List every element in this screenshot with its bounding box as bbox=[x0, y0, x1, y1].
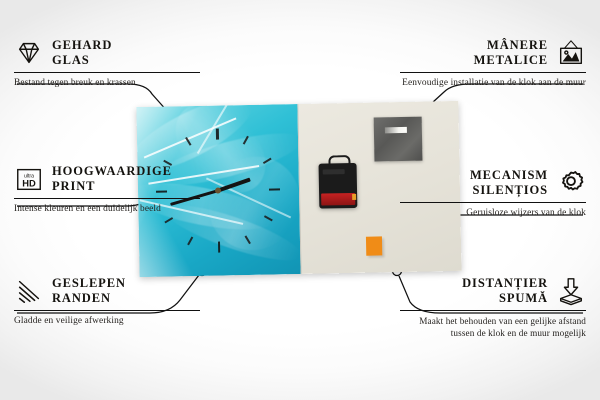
movement-detail bbox=[322, 169, 344, 175]
callout-gehard-glas: GEHARD GLAS Bestand tegen breuk en krass… bbox=[14, 38, 200, 89]
foam-spacer-arrow-icon bbox=[556, 276, 586, 306]
callout-description: Geruisloze wijzers van de klok bbox=[400, 207, 586, 220]
foam-spacer bbox=[366, 237, 382, 256]
callout-title: GESLEPEN RANDEN bbox=[52, 276, 126, 307]
callout-title: HOOGWAARDIGE PRINT bbox=[52, 164, 172, 195]
callout-distantier-spuma: DISTANȚIER SPUMĂ Maakt het behouden van … bbox=[400, 276, 586, 339]
gear-icon bbox=[556, 168, 586, 198]
metal-hanger-plate bbox=[374, 117, 423, 162]
product-infographic: GEHARD GLAS Bestand tegen breuk en krass… bbox=[0, 0, 600, 400]
callout-rule bbox=[400, 202, 586, 203]
callout-title: MECANISM SILENȚIOS bbox=[470, 168, 548, 199]
callout-header: MÂNERE METALICE bbox=[400, 38, 586, 69]
clock-tick bbox=[217, 191, 220, 253]
callout-title: MÂNERE METALICE bbox=[474, 38, 548, 69]
picture-frame-hanging-icon bbox=[556, 38, 586, 68]
svg-text:HD: HD bbox=[22, 179, 36, 189]
callout-header: GEHARD GLAS bbox=[14, 38, 200, 69]
callout-description: Maakt het behouden van een gelijke afsta… bbox=[400, 315, 586, 340]
battery bbox=[321, 193, 355, 206]
clock-movement bbox=[318, 162, 357, 209]
callout-description: Bestand tegen breuk en krassen bbox=[14, 77, 200, 90]
callout-rule bbox=[14, 310, 200, 311]
callout-rule bbox=[14, 72, 200, 73]
callout-mecanism-silentios: MECANISM SILENȚIOS Geruisloze wijzers va… bbox=[400, 168, 586, 219]
callout-description: Intense kleuren en een duidelijk beeld bbox=[14, 203, 200, 216]
callout-description: Eenvoudige installatie van de klok aan d… bbox=[400, 77, 586, 90]
callout-rule bbox=[400, 72, 586, 73]
callout-header: DISTANȚIER SPUMĂ bbox=[400, 276, 586, 307]
callout-title: DISTANȚIER SPUMĂ bbox=[462, 276, 548, 307]
diamond-icon bbox=[14, 38, 44, 68]
callout-rule bbox=[14, 198, 200, 199]
hanger-slot bbox=[384, 127, 406, 134]
movement-hanging-loop bbox=[328, 155, 351, 168]
clock-tick bbox=[216, 129, 219, 191]
ultra-hd-icon: ultra HD bbox=[14, 164, 44, 194]
callout-manere-metalice: MÂNERE METALICE Eenvoudige installatie v… bbox=[400, 38, 586, 89]
callout-header: GESLEPEN RANDEN bbox=[14, 276, 200, 307]
callout-description: Gladde en veilige afwerking bbox=[14, 315, 200, 328]
polished-edges-icon bbox=[14, 276, 44, 306]
callout-geslepen-randen: GESLEPEN RANDEN Gladde en veilige afwerk… bbox=[14, 276, 200, 327]
callout-header: ultra HD HOOGWAARDIGE PRINT bbox=[14, 164, 200, 195]
callout-hoogwaardige-print: ultra HD HOOGWAARDIGE PRINT Intense kleu… bbox=[14, 164, 200, 215]
callout-rule bbox=[400, 310, 586, 311]
callout-header: MECANISM SILENȚIOS bbox=[400, 168, 586, 199]
callout-title: GEHARD GLAS bbox=[52, 38, 112, 69]
